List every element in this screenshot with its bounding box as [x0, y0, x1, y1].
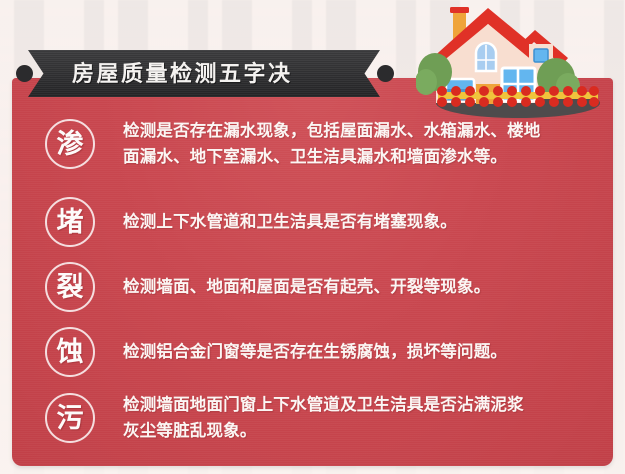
tip-text-shi: 检测铝合金门窗等是否存在生锈腐蚀，损坏等问题。 [123, 339, 587, 365]
list-item: 蚀 检测铝合金门窗等是否存在生锈腐蚀，损坏等问题。 [12, 327, 613, 377]
tip-text-wu: 检测墙面地面门窗上下水管道及卫生洁具是否沾满泥浆 灰尘等脏乱现象。 [123, 392, 587, 444]
tip-line: 检测墙面地面门窗上下水管道及卫生洁具是否沾满泥浆 [123, 392, 587, 418]
tip-line: 面漏水、地下室漏水、卫生洁具漏水和墙面渗水等。 [123, 144, 587, 170]
tip-text-shen: 检测是否存在漏水现象，包括屋面漏水、水箱漏水、楼地 面漏水、地下室漏水、卫生洁具… [123, 118, 587, 170]
ribbon-dot-left [16, 65, 33, 82]
tip-text-lie: 检测墙面、地面和屋面是否有起壳、开裂等现象。 [123, 274, 587, 300]
tip-line: 检测是否存在漏水现象，包括屋面漏水、水箱漏水、楼地 [123, 118, 587, 144]
list-item: 渗 检测是否存在漏水现象，包括屋面漏水、水箱漏水、楼地 面漏水、地下室漏水、卫生… [12, 118, 613, 170]
list-item: 污 检测墙面地面门窗上下水管道及卫生洁具是否沾满泥浆 灰尘等脏乱现象。 [12, 392, 613, 444]
chimney-cap [450, 7, 469, 13]
list-item: 裂 检测墙面、地面和屋面是否有起壳、开裂等现象。 [12, 262, 613, 312]
list-item: 堵 检测上下水管道和卫生洁具是否有堵塞现象。 [12, 197, 613, 247]
tip-text-du: 检测上下水管道和卫生洁具是否有堵塞现象。 [123, 209, 587, 235]
ribbon-dot-right [377, 65, 394, 82]
badge-char-lie: 裂 [45, 262, 95, 312]
dormer-window [534, 49, 548, 62]
tip-line: 灰尘等脏乱现象。 [123, 418, 587, 444]
poster-root: 房屋质量检测五字决 渗 检测是否存在漏水现象，包括屋面漏水、水箱漏水、楼地 面漏… [0, 0, 625, 474]
badge-char-wu: 污 [45, 393, 95, 443]
badge-char-shen: 渗 [45, 119, 95, 169]
badge-char-du: 堵 [45, 197, 95, 247]
house-illustration [416, 0, 625, 118]
tip-line: 检测上下水管道和卫生洁具是否有堵塞现象。 [123, 209, 587, 235]
tip-line: 检测墙面、地面和屋面是否有起壳、开裂等现象。 [123, 274, 587, 300]
tip-line: 检测铝合金门窗等是否存在生锈腐蚀，损坏等问题。 [123, 339, 587, 365]
badge-char-shi: 蚀 [45, 327, 95, 377]
page-title: 房屋质量检测五字决 [72, 50, 293, 97]
title-ribbon: 房屋质量检测五字决 [28, 50, 380, 97]
